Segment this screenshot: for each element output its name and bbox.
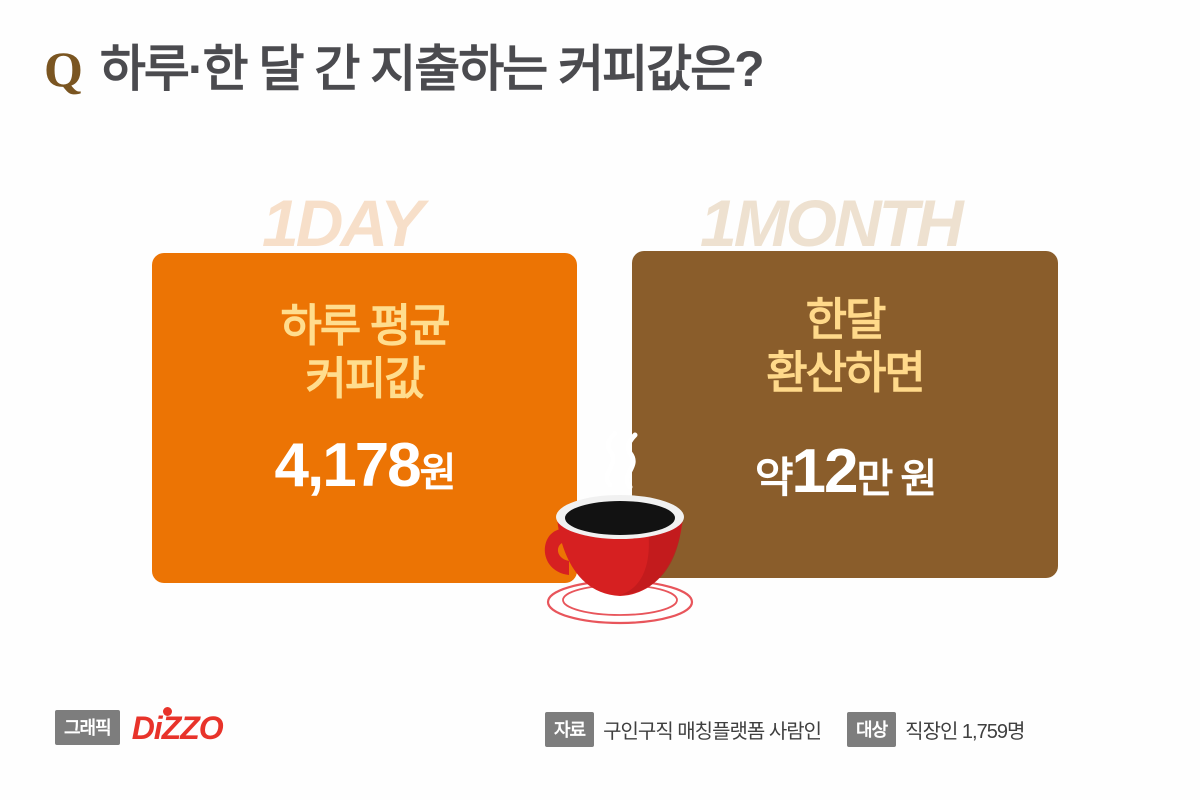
target-group: 대상 직장인 1,759명	[847, 712, 1024, 747]
card-monthly-unit: 만 원	[856, 457, 935, 501]
card-daily-heading: 하루 평균 커피값	[280, 299, 448, 405]
card-monthly-heading-line2: 환산하면	[766, 346, 924, 399]
card-monthly-amount: 12	[791, 437, 856, 506]
watermark-1month: 1MONTH	[700, 190, 961, 256]
card-monthly-heading: 한달 환산하면	[766, 293, 924, 399]
source-text: 구인구직 매칭플랫폼 사람인	[603, 715, 821, 744]
card-daily-heading-line1: 하루 평균	[280, 300, 448, 351]
watermark-1day: 1DAY	[262, 190, 421, 256]
dizzo-logo: DiZZO	[132, 712, 223, 744]
page-title: Q 하루·한 달 간 지출하는 커피값은?	[44, 44, 763, 94]
target-badge: 대상	[847, 712, 896, 747]
footer-meta: 자료 구인구직 매칭플랫폼 사람인 대상 직장인 1,759명	[545, 712, 1024, 747]
coffee-cup-icon	[527, 425, 712, 635]
card-monthly-value: 약12만 원	[755, 441, 935, 503]
footer-credit: 그래픽 DiZZO	[55, 710, 223, 745]
card-daily-heading-line2: 커피값	[280, 352, 448, 405]
card-daily-unit: 원	[420, 451, 455, 495]
target-text: 직장인 1,759명	[905, 715, 1024, 744]
infographic-canvas: Q 하루·한 달 간 지출하는 커피값은? 1DAY 1MONTH 하루 평균 …	[0, 0, 1200, 800]
source-group: 자료 구인구직 매칭플랫폼 사람인	[545, 712, 821, 747]
dizzo-logo-text: DiZZO	[132, 710, 223, 746]
source-badge: 자료	[545, 712, 594, 747]
card-monthly-prefix: 약	[755, 454, 792, 501]
dizzo-logo-dot	[163, 707, 172, 716]
card-daily-value: 4,178원	[275, 435, 455, 497]
card-daily-coffee-cost: 하루 평균 커피값 4,178원	[152, 253, 577, 583]
question-mark-icon: Q	[44, 44, 82, 94]
coffee-surface	[565, 501, 675, 535]
question-text: 하루·한 달 간 지출하는 커피값은?	[100, 44, 763, 94]
card-daily-amount: 4,178	[275, 431, 420, 500]
card-monthly-heading-line1: 한달	[806, 294, 885, 345]
graphic-badge: 그래픽	[55, 710, 120, 745]
steam-icon	[607, 433, 635, 487]
